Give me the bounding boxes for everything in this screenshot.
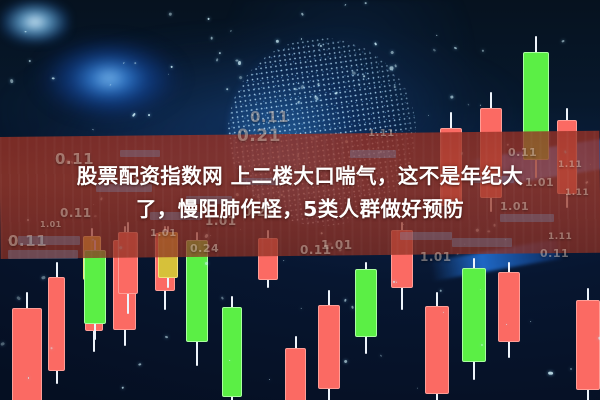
- headline-line-2: 了，慢阻肺作怪，5类人群做好预防: [10, 193, 590, 226]
- ghost-data-bar: [18, 236, 80, 245]
- ghost-number: 1.01: [420, 250, 452, 264]
- ghost-number: 0.11: [300, 243, 332, 257]
- ghost-data-bar: [350, 150, 396, 158]
- ghost-data-bar: [120, 150, 160, 157]
- ghost-data-bar: [8, 250, 78, 259]
- ghost-data-bar: [400, 232, 452, 240]
- ghost-number: 1.01: [150, 228, 177, 239]
- ghost-number: 1.11: [548, 232, 572, 242]
- headline-text: 股票配资指数网 上二楼大口喘气，这不是年纪大 了，慢阻肺作怪，5类人群做好预防: [0, 160, 600, 226]
- ghost-data-bar: [452, 238, 512, 247]
- ghost-number: 0.21: [237, 126, 281, 146]
- headline-line-1: 股票配资指数网 上二楼大口喘气，这不是年纪大: [10, 160, 590, 193]
- ghost-number: 1.11: [368, 128, 395, 139]
- ghost-number: 0.11: [250, 108, 289, 126]
- ghost-number: 0.11: [508, 146, 537, 159]
- ghost-number: 0.11: [540, 247, 569, 260]
- banner-image: 0.111.010.111.010.111.011.010.210.110.21…: [0, 0, 600, 400]
- ghost-number: 0.24: [190, 242, 219, 255]
- ghost-number: 1.01: [321, 238, 353, 252]
